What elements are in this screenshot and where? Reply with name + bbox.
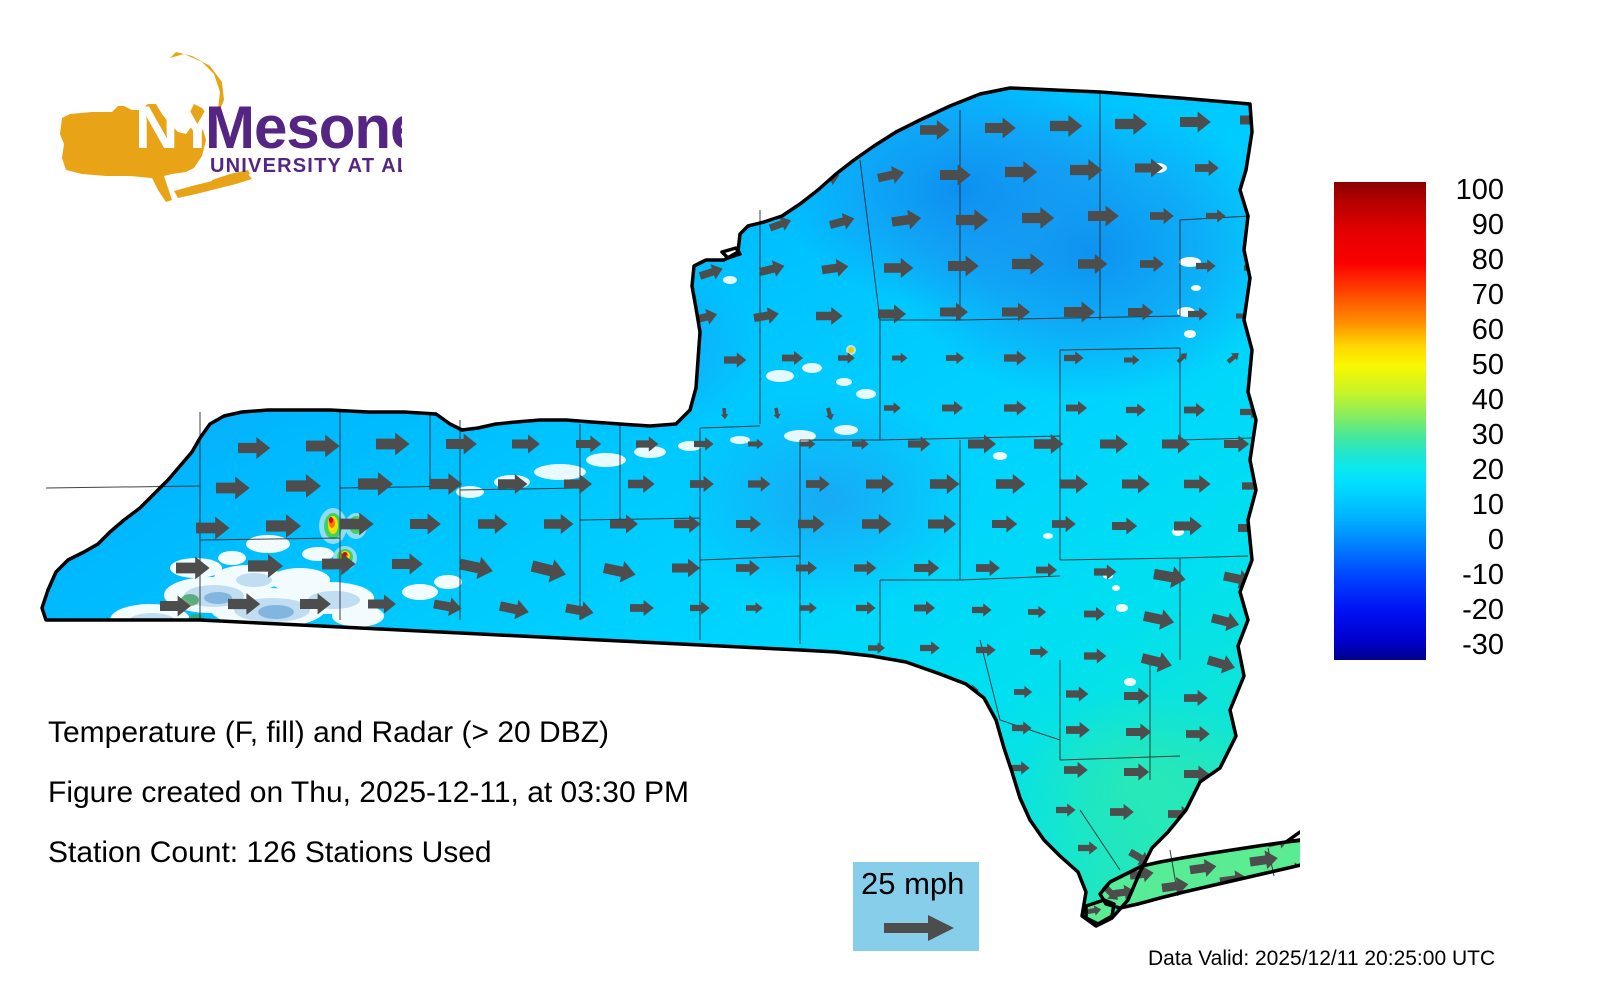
colorbar-tick: 20 <box>1430 456 1504 485</box>
wind-speed-legend: 25 mph <box>853 862 979 951</box>
colorbar-tick: 70 <box>1430 281 1504 310</box>
colorbar-tick: 50 <box>1430 351 1504 380</box>
colorbar-tick: 40 <box>1430 386 1504 415</box>
colorbar-tick-labels: 100 90 80 70 60 50 40 30 20 10 0 -10 -20… <box>1430 176 1504 662</box>
colorbar-tick: 30 <box>1430 421 1504 450</box>
data-valid-timestamp: Data Valid: 2025/12/11 20:25:00 UTC <box>1148 948 1495 970</box>
colorbar-tick: 80 <box>1430 246 1504 275</box>
caption-created: Figure created on Thu, 2025-12-11, at 03… <box>48 778 808 808</box>
wind-legend-label: 25 mph <box>861 867 964 901</box>
colorbar-tick: 0 <box>1430 526 1504 555</box>
colorbar-tick: 10 <box>1430 491 1504 520</box>
weather-map-figure: NYS Mesonet UNIVERSITY AT ALBANY <box>0 0 1600 1000</box>
colorbar-tick: -10 <box>1430 561 1504 590</box>
temperature-colorbar: 100 90 80 70 60 50 40 30 20 10 0 -10 -20… <box>1334 176 1504 662</box>
colorbar-gradient <box>1334 182 1426 660</box>
colorbar-tick: 60 <box>1430 316 1504 345</box>
caption-station-count: Station Count: 126 Stations Used <box>48 838 808 868</box>
colorbar-tick: 90 <box>1430 211 1504 240</box>
colorbar-tick: -20 <box>1430 596 1504 625</box>
colorbar-tick: -30 <box>1430 631 1504 660</box>
caption-title: Temperature (F, fill) and Radar (> 20 DB… <box>48 718 808 748</box>
figure-caption: Temperature (F, fill) and Radar (> 20 DB… <box>48 718 808 898</box>
colorbar-tick: 100 <box>1430 176 1504 205</box>
wind-reference-arrow-icon <box>884 913 956 943</box>
